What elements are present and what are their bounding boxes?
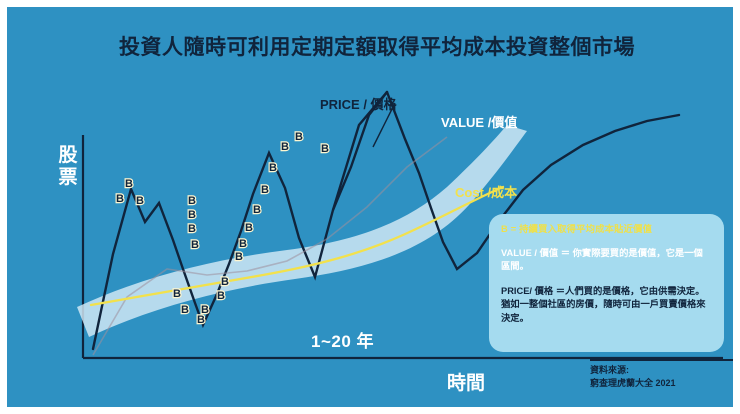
svg-text:B: B: [261, 184, 269, 196]
svg-text:B: B: [217, 290, 225, 302]
svg-text:B: B: [201, 304, 209, 316]
svg-text:B: B: [125, 178, 133, 190]
investment-chart: B B B B B B B B B B B B B B B B B B B B: [7, 7, 740, 414]
svg-text:B: B: [188, 195, 196, 207]
source-label: 資料來源:: [590, 364, 740, 377]
slide-canvas: 投資人隨時可利用定期定額取得平均成本投資整個市場 B: [0, 0, 740, 414]
source-value: 窮查理虎蘭大全 2021: [590, 377, 740, 390]
svg-text:B: B: [321, 143, 329, 155]
legend-buy-definition: B = 持續買入取得平均成本貼近價值: [501, 223, 712, 237]
cost-series-label: Cost /成本: [455, 182, 517, 201]
svg-text:B: B: [269, 162, 277, 174]
svg-text:B: B: [281, 141, 289, 153]
source-citation: 資料來源: 窮查理虎蘭大全 2021: [590, 364, 740, 390]
svg-text:B: B: [239, 238, 247, 250]
svg-text:B: B: [245, 222, 253, 234]
price-series-label: PRICE / 價格: [320, 94, 397, 113]
svg-text:B: B: [221, 276, 229, 288]
value-band-series: [77, 125, 527, 337]
svg-text:B: B: [173, 288, 181, 300]
svg-text:B: B: [253, 204, 261, 216]
svg-text:B: B: [188, 223, 196, 235]
legend-panel: B = 持續買入取得平均成本貼近價值 VALUE / 價值 ＝ 你實際要買的是價…: [489, 214, 724, 352]
source-divider: [590, 359, 740, 361]
time-span-label: 1~20 年: [311, 327, 374, 352]
x-axis-label: 時間: [447, 368, 485, 395]
legend-price-definition: PRICE/ 價格 ＝人們買的是價格，它由供需決定。猶如一整個社區的房價，隨時可…: [501, 285, 712, 326]
svg-text:B: B: [116, 193, 124, 205]
value-series-label: VALUE /價值: [441, 112, 517, 131]
svg-text:B: B: [136, 195, 144, 207]
svg-text:B: B: [295, 131, 303, 143]
svg-text:B: B: [235, 251, 243, 263]
svg-text:B: B: [188, 209, 196, 221]
y-axis-label: 股票: [51, 145, 85, 189]
svg-text:B: B: [191, 239, 199, 251]
svg-text:B: B: [181, 304, 189, 316]
legend-value-definition: VALUE / 價值 ＝ 你實際要買的是價值，它是一個區間。: [501, 247, 712, 274]
